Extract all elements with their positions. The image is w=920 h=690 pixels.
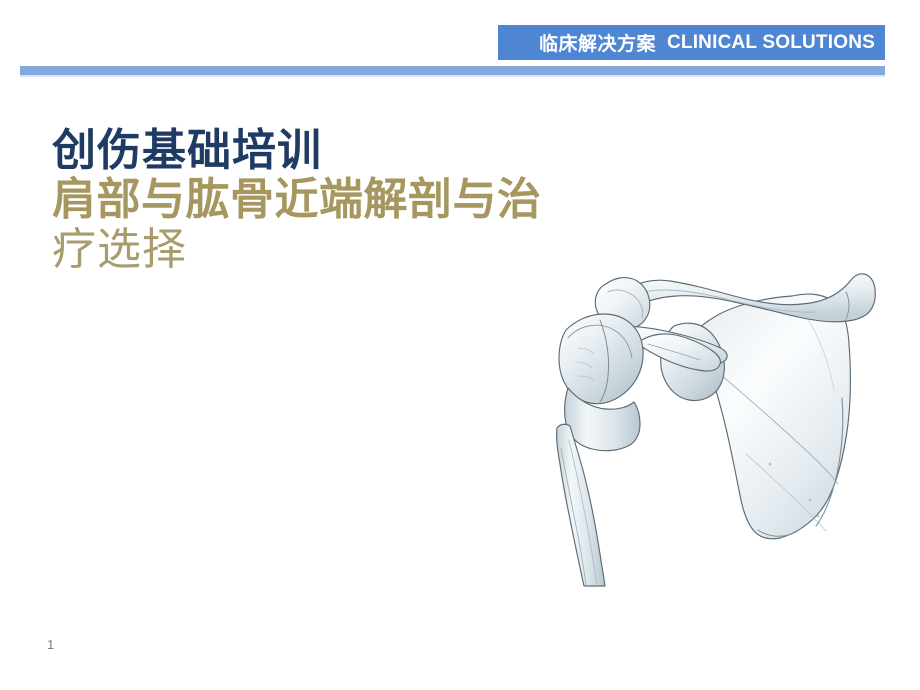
header-divider-rule <box>20 66 885 75</box>
page-number: 1 <box>47 637 54 652</box>
brand-label-chinese: 临床解决方案 <box>539 29 656 56</box>
header-divider-shadow <box>20 75 885 77</box>
scapula-nutrient-foramen-2 <box>809 499 812 502</box>
slide-canvas: 临床解决方案 CLINICAL SOLUTIONS 创伤基础培训 肩部与肱骨近端… <box>0 0 920 690</box>
scapula-nutrient-foramen-1 <box>769 463 772 466</box>
brand-banner: 临床解决方案 CLINICAL SOLUTIONS <box>498 25 885 60</box>
brand-label-english: CLINICAL SOLUTIONS <box>667 32 875 54</box>
title-line-subtitle-part1: 肩部与肱骨近端解剖与治 <box>52 175 692 224</box>
scapula-nutrient-foramen-3 <box>817 515 820 518</box>
shoulder-anatomy-illustration <box>548 248 920 588</box>
title-line-primary: 创伤基础培训 <box>52 126 692 175</box>
humeral-head <box>559 314 643 404</box>
scapula-body <box>693 294 850 539</box>
